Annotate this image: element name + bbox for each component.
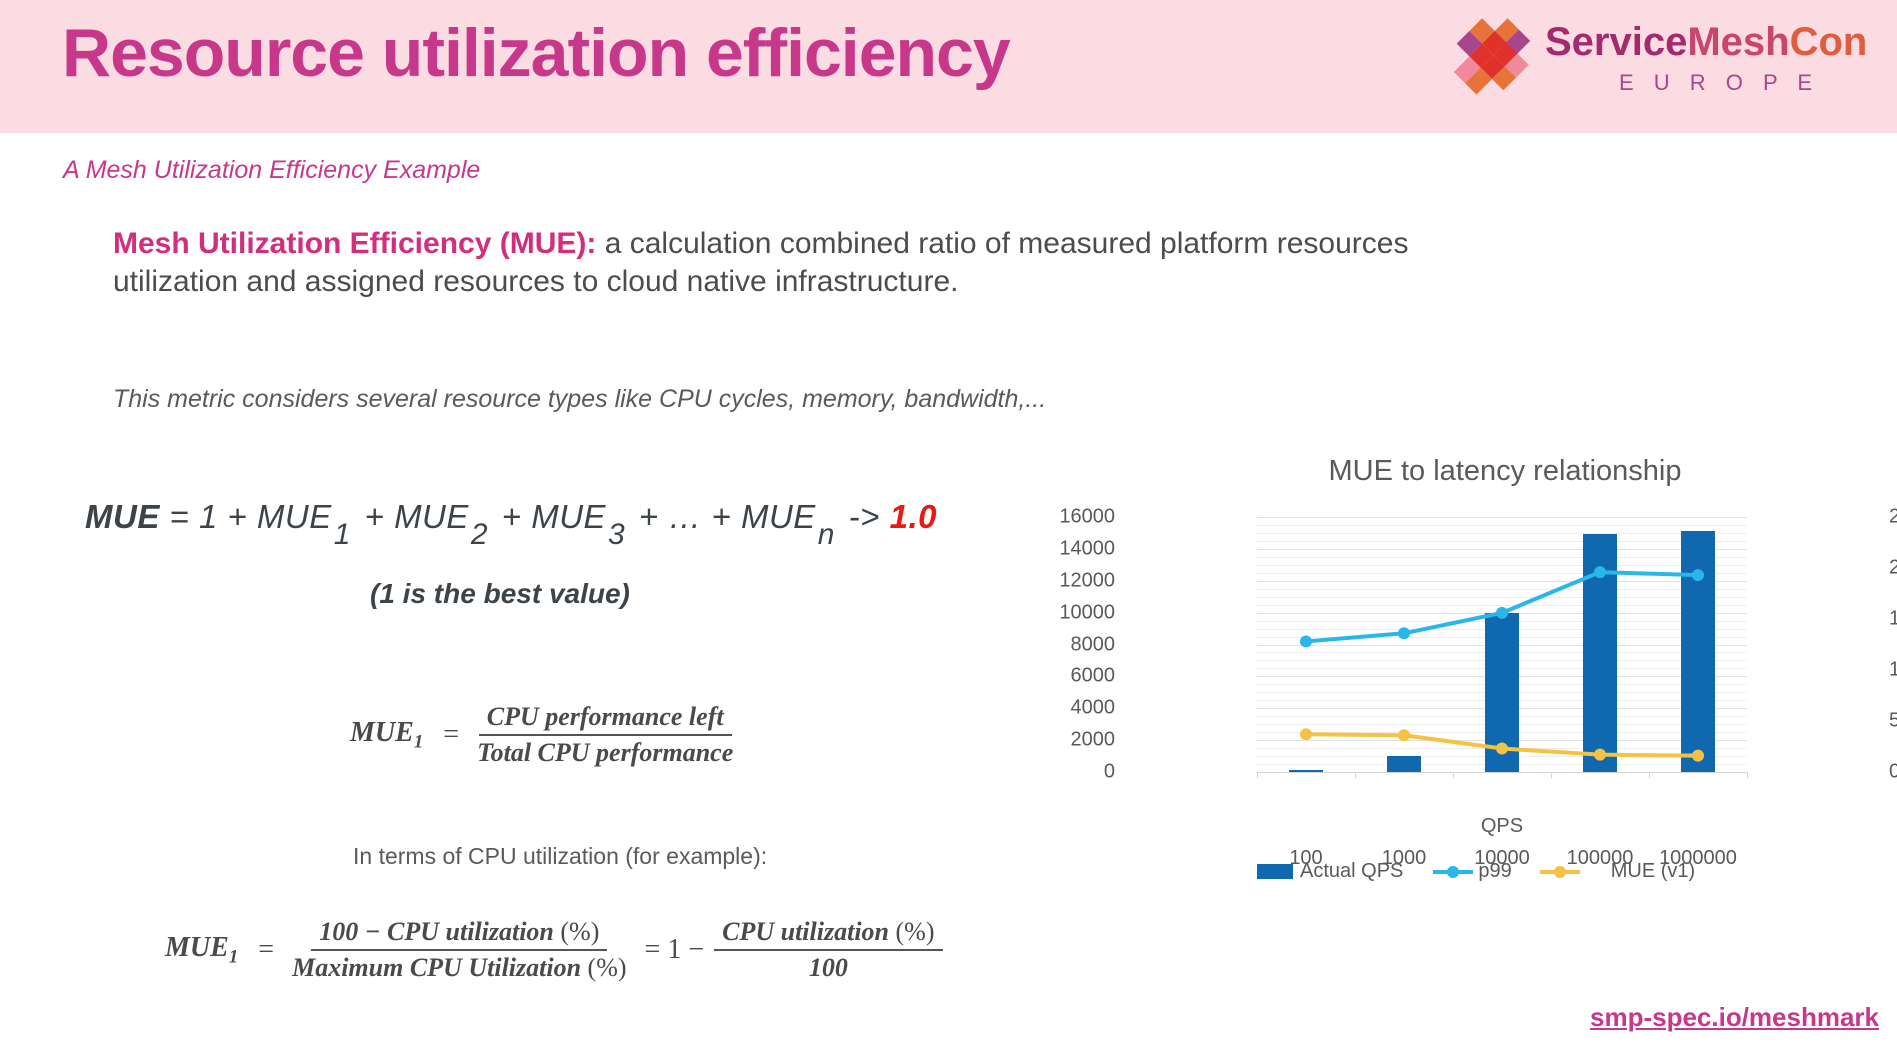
page-title: Resource utilization efficiency bbox=[62, 14, 1010, 92]
definition-term: Mesh Utilization Efficiency (MUE): bbox=[113, 227, 596, 260]
legend-swatch-marker bbox=[1447, 866, 1459, 878]
chart-y-tick-label: 8000 bbox=[1071, 633, 1116, 656]
mue1b-numerator-b-unit: (%) bbox=[896, 917, 935, 946]
mue1b-numerator-a: 100 − CPU utilization (%) bbox=[311, 915, 607, 951]
legend-item[interactable]: Actual QPS bbox=[1257, 860, 1403, 883]
mue1-equals: = bbox=[433, 719, 469, 751]
chart-y-tick-label: 16000 bbox=[1059, 506, 1115, 529]
formula-term-2: MUE bbox=[394, 498, 469, 535]
logo-wordmark: ServiceMeshCon bbox=[1545, 20, 1867, 65]
legend-label: p99 bbox=[1478, 860, 1511, 883]
mue1b-lhs-index: 1 bbox=[229, 946, 239, 967]
chart-data-point bbox=[1594, 566, 1606, 578]
logo-region-label: E U R O P E bbox=[1619, 70, 1819, 96]
formula-term-1: MUE bbox=[257, 498, 332, 535]
chart-y-tick-label: 6000 bbox=[1071, 665, 1116, 688]
logo-word-mesh: Mesh bbox=[1687, 20, 1789, 64]
mue1b-fraction-a: 100 − CPU utilization (%) Maximum CPU Ut… bbox=[284, 915, 634, 985]
chart-data-point bbox=[1496, 743, 1508, 755]
mue1-numerator: CPU performance left bbox=[479, 700, 732, 736]
mue1b-mid-equals: = 1 − bbox=[635, 934, 715, 966]
chart-y-tick-label: 10000 bbox=[1059, 601, 1115, 624]
mue1-fraction: CPU performance left Total CPU performan… bbox=[469, 700, 741, 770]
chart-y-tick-label: 12000 bbox=[1059, 569, 1115, 592]
legend-swatch-marker bbox=[1554, 866, 1566, 878]
mue1b-denominator-b: 100 bbox=[801, 951, 856, 985]
mue1b-denominator-a: Maximum CPU Utilization (%) bbox=[284, 951, 634, 985]
mue1b-fraction-b: CPU utilization (%) 100 bbox=[714, 915, 942, 985]
chart-data-point bbox=[1692, 569, 1704, 581]
formula-plus-1: + bbox=[355, 498, 394, 535]
legend-swatch-line bbox=[1433, 870, 1473, 874]
best-value-caption: (1 is the best value) bbox=[370, 578, 630, 610]
chart-x-tick bbox=[1355, 772, 1356, 778]
chart-data-point bbox=[1398, 627, 1410, 639]
formula-term-n: MUE bbox=[741, 498, 816, 535]
chart-x-tick bbox=[1257, 772, 1258, 778]
chart-data-point bbox=[1496, 607, 1508, 619]
chart-y2-tick-label: 20.00 bbox=[1889, 557, 1897, 580]
definition-paragraph: Mesh Utilization Efficiency (MUE): a cal… bbox=[113, 225, 1413, 301]
mue1b-lhs: MUE1 bbox=[165, 932, 248, 969]
formula-term-3: MUE bbox=[531, 498, 606, 535]
chart-y2-tick-label: 15.00 bbox=[1889, 608, 1897, 631]
chart-line-layer bbox=[1257, 517, 1747, 772]
chart-data-point bbox=[1692, 750, 1704, 762]
section-eyebrow: A Mesh Utilization Efficiency Example bbox=[63, 156, 480, 185]
mue1b-denominator-a-text: Maximum CPU Utilization bbox=[292, 953, 581, 982]
mue1b-equals: = bbox=[248, 934, 284, 966]
formula-plus-3: + … + bbox=[629, 498, 741, 535]
meshmark-link[interactable]: smp-spec.io/meshmark bbox=[1590, 1002, 1879, 1033]
metric-note: This metric considers several resource t… bbox=[113, 385, 1046, 414]
formula-term-1-sub: 1 bbox=[334, 518, 357, 552]
chart-title: MUE to latency relationship bbox=[1135, 455, 1875, 488]
chart-series-line bbox=[1306, 572, 1698, 641]
chart-data-point bbox=[1300, 728, 1312, 740]
chart-data-point bbox=[1300, 635, 1312, 647]
mue1-lhs-text: MUE bbox=[350, 717, 414, 748]
formula-term-2-sub: 2 bbox=[471, 518, 494, 552]
mue1b-numerator-b: CPU utilization (%) bbox=[714, 915, 942, 951]
chart-legend: Actual QPSp99MUE (v1) bbox=[1257, 860, 1777, 883]
legend-swatch-line bbox=[1540, 870, 1580, 874]
mue1b-denominator-a-unit: (%) bbox=[588, 953, 627, 982]
chart-y-tick-label: 0 bbox=[1104, 761, 1115, 784]
mue-sum-formula: MUE = 1 + MUE1 + MUE2 + MUE3 + … + MUEn … bbox=[85, 498, 937, 536]
formula-plus-2: + bbox=[492, 498, 531, 535]
mue1-definition-formula: MUE1 = CPU performance left Total CPU pe… bbox=[350, 700, 741, 770]
chart-y2-tick-label: 5.00 bbox=[1889, 710, 1897, 733]
formula-arrow: -> bbox=[839, 498, 890, 535]
legend-item[interactable]: p99 bbox=[1433, 860, 1511, 883]
mue1b-numerator-b-text: CPU utilization bbox=[722, 917, 889, 946]
mue1b-numerator-a-text: 100 − CPU utilization bbox=[319, 917, 554, 946]
mue1b-lhs-text: MUE bbox=[165, 932, 229, 963]
header-band: Resource utilization efficiency ServiceM… bbox=[0, 0, 1897, 133]
chart-y-tick-label: 4000 bbox=[1071, 697, 1116, 720]
legend-label: MUE (v1) bbox=[1611, 860, 1695, 883]
chart-data-point bbox=[1398, 729, 1410, 741]
mue1b-numerator-a-unit: (%) bbox=[560, 917, 599, 946]
chart-x-axis-title: QPS bbox=[1257, 815, 1747, 838]
logo-word-con: Con bbox=[1790, 20, 1868, 64]
chart-plot-area: 02000400060008000100001200014000160000.0… bbox=[1257, 517, 1747, 772]
chart-y2-tick-label: 25.00 bbox=[1889, 506, 1897, 529]
chart-y-tick-label: 14000 bbox=[1059, 537, 1115, 560]
chart-x-tick bbox=[1649, 772, 1650, 778]
chart-x-tick bbox=[1551, 772, 1552, 778]
chart-y2-tick-label: 10.00 bbox=[1889, 659, 1897, 682]
chart-y-tick-label: 2000 bbox=[1071, 729, 1116, 752]
diamond-cross-logo-icon bbox=[1449, 14, 1535, 96]
chart-x-tick bbox=[1747, 772, 1748, 778]
chart-x-axis-line bbox=[1257, 772, 1747, 773]
formula-term-n-sub: n bbox=[818, 518, 841, 552]
formula-term-3-sub: 3 bbox=[608, 518, 631, 552]
in-terms-caption: In terms of CPU utilization (for example… bbox=[353, 843, 767, 870]
servicemeshcon-logo: ServiceMeshCon E U R O P E bbox=[1449, 12, 1849, 112]
legend-label: Actual QPS bbox=[1300, 860, 1403, 883]
legend-swatch-bar bbox=[1257, 864, 1293, 879]
formula-target-value: 1.0 bbox=[890, 498, 937, 535]
logo-word-service: Service bbox=[1545, 20, 1687, 64]
chart-data-point bbox=[1594, 749, 1606, 761]
formula-lhs: MUE bbox=[85, 498, 160, 535]
legend-item[interactable]: MUE (v1) bbox=[1540, 860, 1695, 883]
formula-eq: = 1 + bbox=[160, 498, 257, 535]
mue1-cpu-formula: MUE1 = 100 − CPU utilization (%) Maximum… bbox=[165, 915, 943, 985]
chart-x-tick bbox=[1453, 772, 1454, 778]
mue1-denominator: Total CPU performance bbox=[469, 736, 741, 770]
mue1-lhs: MUE1 bbox=[350, 717, 433, 754]
mue-latency-chart: MUE to latency relationship 020004000600… bbox=[1135, 455, 1875, 935]
chart-y2-tick-label: 0.00 bbox=[1889, 761, 1897, 784]
mue1-lhs-index: 1 bbox=[414, 731, 424, 752]
